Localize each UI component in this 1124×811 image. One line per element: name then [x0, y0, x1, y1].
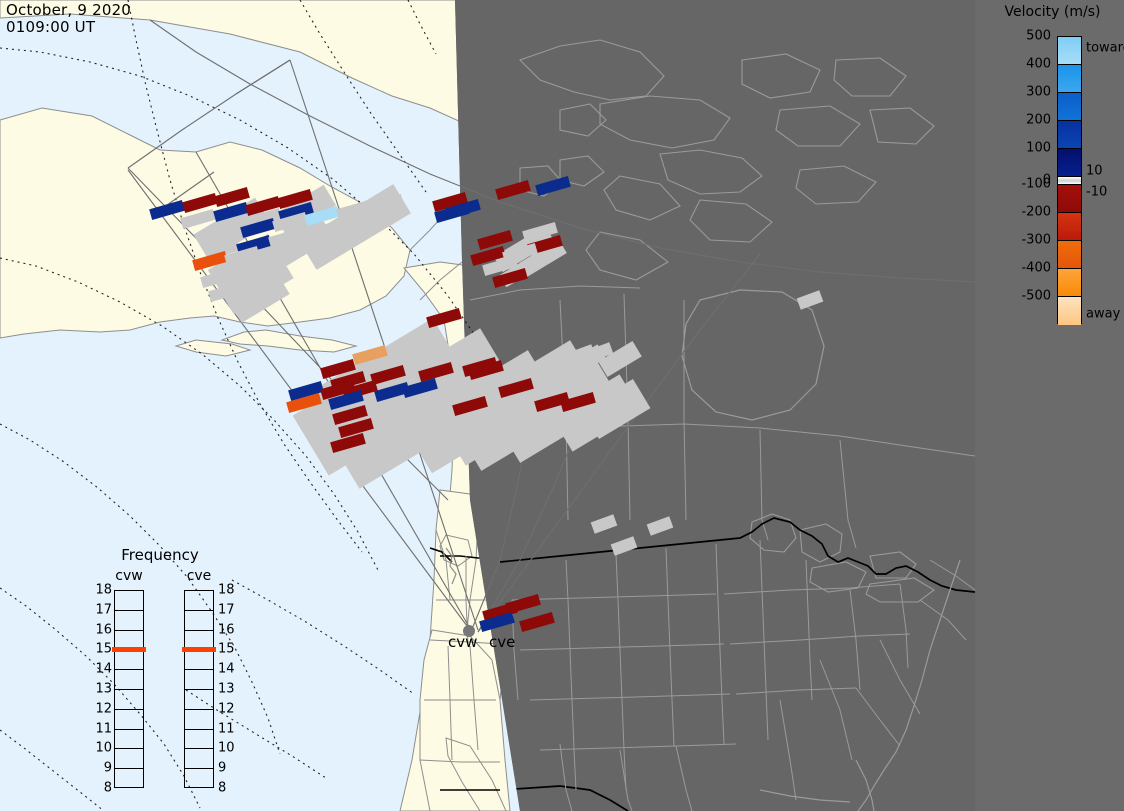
freq-tick-label-right: 13 — [218, 682, 240, 697]
colorbar-tick-label: -500 — [991, 289, 1051, 304]
colorbar-segment — [1058, 37, 1081, 65]
freq-tick-label-right: 16 — [218, 622, 240, 637]
colorbar-segment — [1058, 121, 1081, 149]
colorbar-tick-label: 100 — [991, 141, 1051, 156]
colorbar-segment — [1058, 149, 1081, 177]
freq-scale-cell — [185, 611, 213, 631]
radar-site-label-cvw: cvw — [448, 634, 477, 650]
colorbar-gradient — [1057, 36, 1082, 324]
freq-col-header-cvw: cvw — [106, 568, 152, 584]
freq-tick-label-right: 17 — [218, 602, 240, 617]
colorbar-tick-label: 300 — [991, 85, 1051, 100]
colorbar-tick-label: -200 — [991, 205, 1051, 220]
colorbar-tick-label: 200 — [991, 113, 1051, 128]
colorbar-tick-label: -300 — [991, 233, 1051, 248]
freq-tick-label-left: 12 — [90, 701, 112, 716]
freq-scale-cell — [115, 670, 143, 690]
freq-scale-cell — [115, 690, 143, 710]
freq-scale-cell — [115, 710, 143, 730]
freq-scale-cell — [115, 749, 143, 769]
freq-scale-cvw — [114, 590, 144, 788]
freq-tick-label-right: 10 — [218, 741, 240, 756]
colorbar-segment — [1058, 297, 1081, 325]
freq-tick-label-right: 8 — [218, 781, 240, 796]
freq-tick-label-left: 16 — [90, 622, 112, 637]
freq-tick-label-right: 12 — [218, 701, 240, 716]
colorbar-tick-label: 400 — [991, 57, 1051, 72]
date-text: October, 9 2020 — [6, 1, 131, 19]
colorbar-segment — [1058, 93, 1081, 121]
freq-tick-label-left: 17 — [90, 602, 112, 617]
freq-marker — [182, 647, 216, 652]
freq-scale-cell — [115, 650, 143, 670]
freq-scale-cell — [185, 749, 213, 769]
colorbar-segment — [1058, 177, 1081, 185]
freq-tick-label-left: 15 — [90, 642, 112, 657]
freq-tick-label-left: 8 — [90, 781, 112, 796]
colorbar-side-labels: toward10-10away — [1086, 0, 1124, 811]
freq-col-header-cve: cve — [176, 568, 222, 584]
freq-marker — [112, 647, 146, 652]
freq-tick-label-left: 11 — [90, 721, 112, 736]
freq-scale-cell — [185, 591, 213, 611]
freq-tick-label-left: 18 — [90, 583, 112, 598]
colorbar-tick-label: 500 — [991, 29, 1051, 44]
freq-scale-cell — [185, 769, 213, 789]
freq-tick-label-right: 9 — [218, 761, 240, 776]
colorbar-ticks: 5004003002001000-100-200-300-400-500 — [983, 0, 1051, 811]
colorbar-tick-label: -100 — [991, 177, 1051, 192]
colorbar-label-away: away — [1086, 307, 1120, 322]
freq-scale-cell — [185, 650, 213, 670]
freq-tick-label-left: 9 — [90, 761, 112, 776]
map-canvas[interactable]: October, 9 20200109:00 UT cvw cve Freque… — [0, 0, 975, 811]
colorbar-label-neg-threshold: -10 — [1086, 185, 1107, 200]
freq-tick-label-right: 11 — [218, 721, 240, 736]
freq-scale-cell — [185, 710, 213, 730]
colorbar-segment — [1058, 185, 1081, 213]
colorbar-segment — [1058, 241, 1081, 269]
freq-scale-cell — [185, 670, 213, 690]
frequency-legend: Frequency cvw cve 1818171716161515141413… — [90, 546, 230, 794]
freq-tick-label-right: 18 — [218, 583, 240, 598]
colorbar-segment — [1058, 65, 1081, 93]
freq-scale-cell — [115, 611, 143, 631]
freq-scale-cell — [185, 730, 213, 750]
freq-tick-label-right: 14 — [218, 662, 240, 677]
colorbar-segment — [1058, 213, 1081, 241]
time-text: 0109:00 UT — [6, 18, 95, 36]
colorbar-label-pos-threshold: 10 — [1086, 164, 1103, 179]
freq-tick-label-left: 10 — [90, 741, 112, 756]
freq-tick-label-right: 15 — [218, 642, 240, 657]
radar-site-label-cve: cve — [489, 634, 515, 650]
radar-map-screenshot: October, 9 20200109:00 UT cvw cve Freque… — [0, 0, 1124, 811]
freq-tick-label-left: 13 — [90, 682, 112, 697]
freq-scale-cell — [115, 730, 143, 750]
colorbar-label-toward: toward — [1086, 41, 1124, 56]
freq-scale-cve — [184, 590, 214, 788]
freq-scale-cell — [115, 591, 143, 611]
colorbar-segment — [1058, 269, 1081, 297]
colorbar-panel: Velocity (m/s) 5004003002001000-100-200-… — [975, 0, 1124, 811]
freq-scale-cell — [185, 690, 213, 710]
freq-tick-label-left: 14 — [90, 662, 112, 677]
datetime-label: October, 9 20200109:00 UT — [6, 2, 131, 36]
freq-scale-cell — [115, 769, 143, 789]
frequency-title: Frequency — [90, 546, 230, 564]
colorbar-tick-label: -400 — [991, 261, 1051, 276]
